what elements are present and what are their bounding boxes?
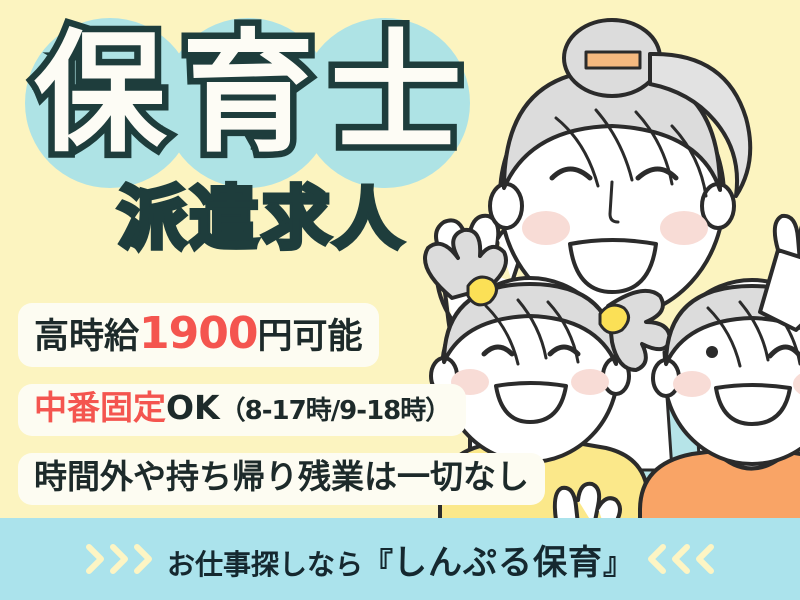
benefit-row-3: 時間外や持ち帰り残業は一切なし [18,453,578,522]
brand-name: しんぷる保育 [393,535,603,584]
chevron-left-icon [647,544,666,574]
footer-cta-bar: お仕事探しなら『しんぷる保育』 [0,518,800,600]
wage-suffix-label: 円可能 [257,317,362,357]
footer-open-bracket: 『 [363,539,393,583]
benefit-fixed-shift: 中番固定OK（8-17時/9-18時） [18,384,466,436]
chevron-right-icon [110,544,129,574]
chevron-group-right [647,544,714,574]
girl-pigtail-right [608,291,670,370]
benefit-row-2: 中番固定OK（8-17時/9-18時） [18,384,578,453]
shift-ok-label: OK [166,388,220,427]
wage-amount-value: 1900 [139,308,257,359]
chevron-left-icon [671,544,690,574]
benefit-list: 高時給1900円可能 中番固定OK（8-17時/9-18時） 時間外や持ち帰り残… [18,303,578,522]
chevron-left-icon [695,544,714,574]
footer-lead-label: お仕事探しなら [167,543,363,583]
teacher-face [500,74,724,318]
chevron-group-left [86,544,153,574]
teacher-ponytail [650,54,750,196]
teacher-hair [504,70,720,190]
boy-hair [666,286,800,366]
girl-pigtail-left [425,230,506,298]
job-ad-banner: 保育士 派遣求人 高時給1900円可能 中番固定OK（8-17時/9-18時） … [0,0,800,600]
page-subtitle: 派遣求人 [118,186,406,254]
boy-face [664,280,800,464]
benefit-hourly-wage: 高時給1900円可能 [18,303,379,367]
wage-prefix-label: 高時給 [34,317,139,357]
shift-accent-label: 中番固定 [34,388,166,427]
chevron-right-icon [86,544,105,574]
benefit-row-1: 高時給1900円可能 [18,303,578,384]
footer-close-bracket: 』 [603,539,633,583]
page-title: 保育士 [34,28,478,160]
benefit-no-overtime: 時間外や持ち帰り残業は一切なし [18,453,545,505]
shift-hours-label: （8-17時/9-18時） [220,396,451,426]
chevron-right-icon [134,544,153,574]
footer-tagline: お仕事探しなら『しんぷる保育』 [167,535,633,584]
